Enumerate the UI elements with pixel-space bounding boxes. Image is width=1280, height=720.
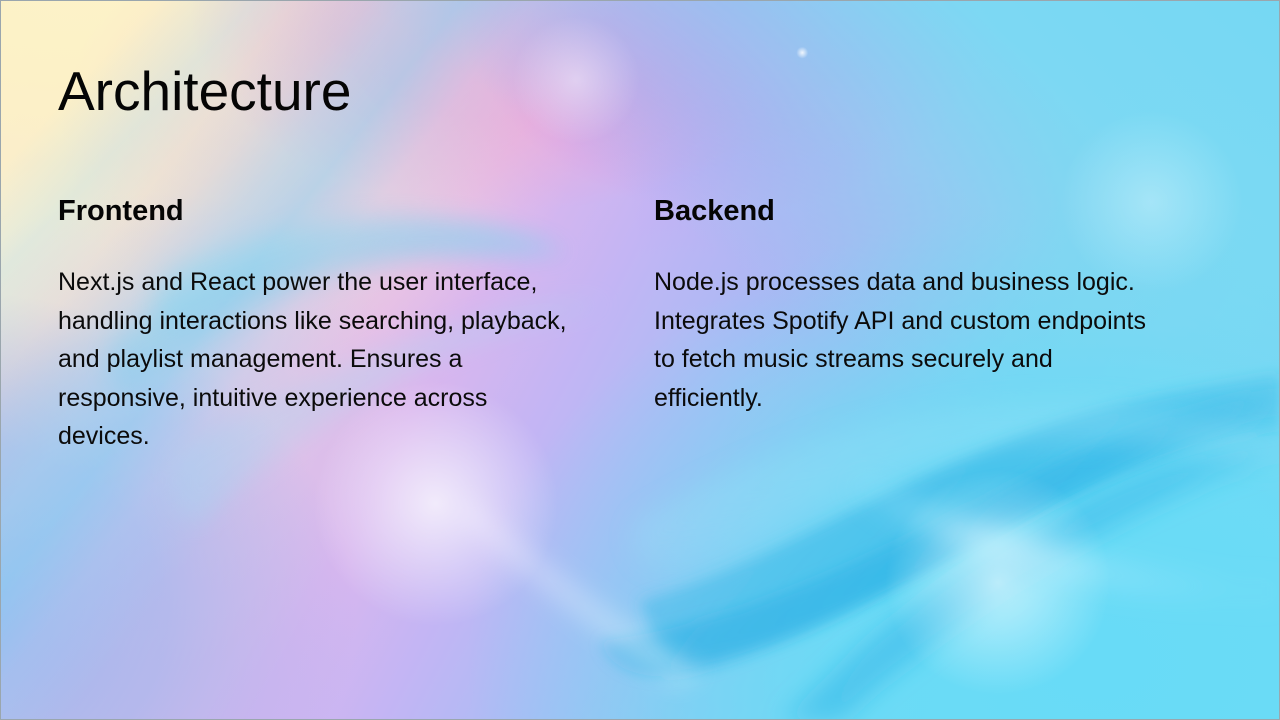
column-frontend: Frontend Next.js and React power the use… xyxy=(58,193,578,456)
slide-content: Architecture Frontend Next.js and React … xyxy=(1,1,1279,719)
column-body-backend: Node.js processes data and business logi… xyxy=(654,263,1164,417)
presentation-slide: Architecture Frontend Next.js and React … xyxy=(0,0,1280,720)
slide-title: Architecture xyxy=(58,57,351,125)
column-heading-backend: Backend xyxy=(654,193,1164,229)
column-heading-frontend: Frontend xyxy=(58,193,578,229)
column-body-frontend: Next.js and React power the user interfa… xyxy=(58,263,578,456)
column-backend: Backend Node.js processes data and busin… xyxy=(654,193,1164,417)
